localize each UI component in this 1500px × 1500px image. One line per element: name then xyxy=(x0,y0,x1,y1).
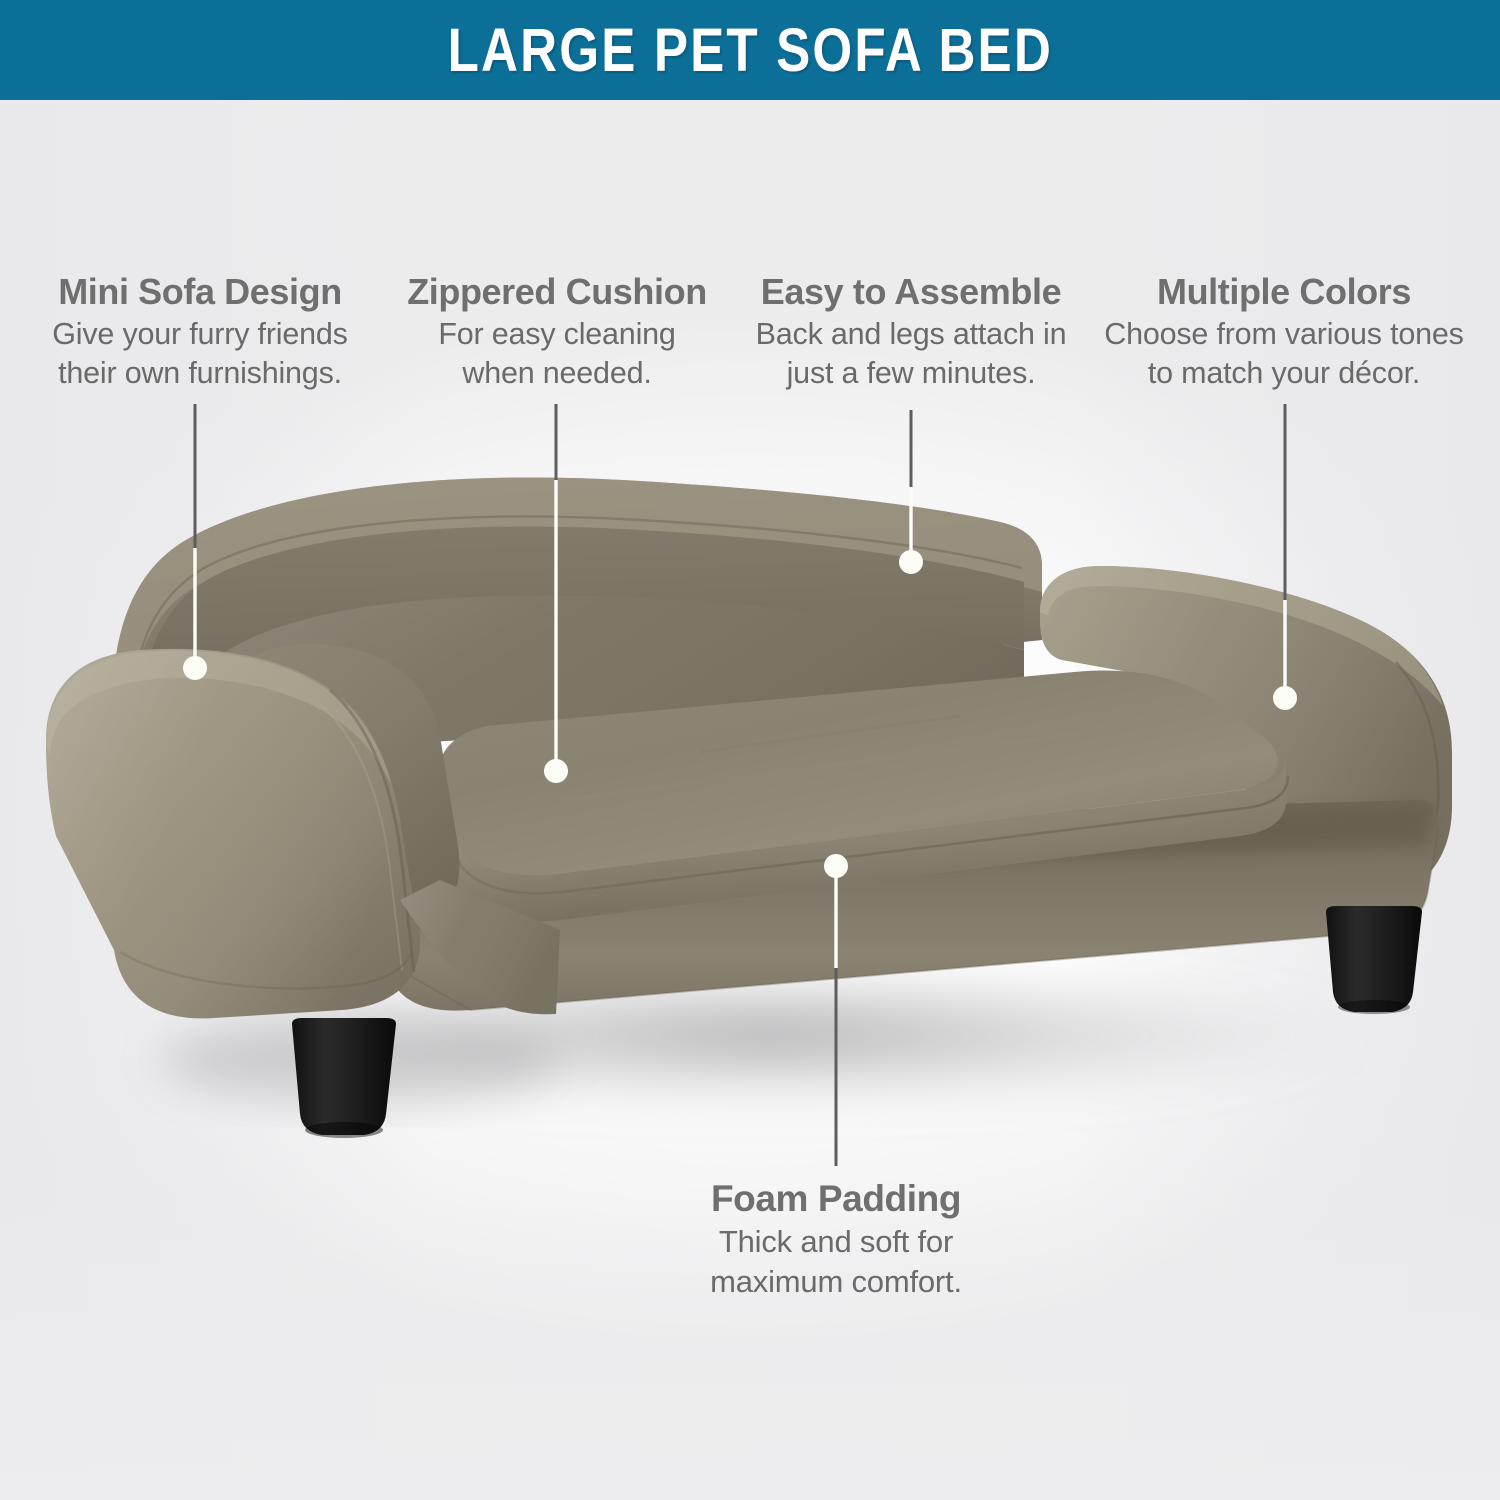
page-title: LARGE PET SOFA BED xyxy=(447,15,1052,85)
feature-title: Multiple Colors xyxy=(1098,272,1470,312)
feature-zippered-cushion: Zippered Cushion For easy cleaning when … xyxy=(392,272,722,393)
feature-title: Zippered Cushion xyxy=(392,272,722,312)
feature-body-line: For easy cleaning xyxy=(392,315,722,354)
feature-body: Choose from various tones to match your … xyxy=(1098,315,1470,393)
feature-body-line: their own furnishings. xyxy=(30,354,370,393)
feature-mini-sofa-design: Mini Sofa Design Give your furry friends… xyxy=(30,272,370,393)
feature-body: For easy cleaning when needed. xyxy=(392,315,722,393)
feature-body-line: just a few minutes. xyxy=(742,354,1080,393)
feature-body-line: Back and legs attach in xyxy=(742,315,1080,354)
feature-multiple-colors: Multiple Colors Choose from various tone… xyxy=(1098,272,1470,393)
feature-title: Mini Sofa Design xyxy=(30,272,370,312)
feature-title: Easy to Assemble xyxy=(742,272,1080,312)
feature-body: Back and legs attach in just a few minut… xyxy=(742,315,1080,393)
feature-title: Foam Padding xyxy=(636,1178,1036,1219)
feature-body-line: Choose from various tones xyxy=(1098,315,1470,354)
feature-body-line: maximum comfort. xyxy=(636,1262,1036,1302)
feature-body: Thick and soft for maximum comfort. xyxy=(636,1222,1036,1301)
feature-body-line: to match your décor. xyxy=(1098,354,1470,393)
feature-body-line: when needed. xyxy=(392,354,722,393)
feature-body-line: Give your furry friends xyxy=(30,315,370,354)
header-banner: LARGE PET SOFA BED xyxy=(0,0,1500,100)
feature-easy-to-assemble: Easy to Assemble Back and legs attach in… xyxy=(742,272,1080,393)
feature-body-line: Thick and soft for xyxy=(636,1222,1036,1262)
feature-foam-padding: Foam Padding Thick and soft for maximum … xyxy=(636,1178,1036,1302)
product-infographic: LARGE PET SOFA BED xyxy=(0,0,1500,1500)
feature-body: Give your furry friends their own furnis… xyxy=(30,315,370,393)
